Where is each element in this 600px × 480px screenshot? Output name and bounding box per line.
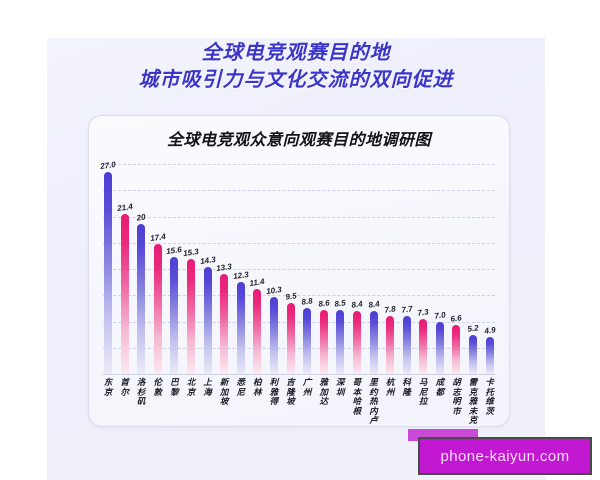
headline-line-1: 全球电竞观赛目的地: [47, 40, 545, 67]
chart-plot-area: 27.021.42017.415.615.314.313.312.311.410…: [103, 164, 495, 374]
bar-column[interactable]: 9.5: [286, 164, 296, 374]
bar-value-label: 20: [136, 212, 146, 222]
bar[interactable]: 10.3: [270, 297, 278, 374]
bar-value-label: 9.5: [284, 291, 296, 301]
bar-column[interactable]: 11.4: [252, 164, 262, 374]
headline-line-2: 城市吸引力与文化交流的双向促进: [47, 67, 545, 94]
x-axis-label: 雅加达: [319, 378, 329, 407]
x-axis-label: 杭州: [385, 378, 395, 397]
x-axis-label: 里约热内卢: [369, 378, 379, 426]
x-axis-label: 胡志明市: [451, 378, 461, 416]
x-axis-label: 成都: [435, 378, 445, 397]
bar[interactable]: 15.6: [170, 257, 178, 374]
bar[interactable]: 12.3: [237, 282, 245, 374]
bar-column[interactable]: 13.3: [219, 164, 229, 374]
bar[interactable]: 7.8: [386, 316, 394, 375]
watermark-label: phone-kaiyun.com: [441, 448, 570, 465]
x-axis-label: 哥本哈根: [352, 378, 362, 416]
bar[interactable]: 20: [137, 224, 145, 374]
bar-value-label: 4.9: [484, 326, 496, 336]
bar[interactable]: 4.9: [486, 337, 494, 374]
bar-value-label: 13.3: [216, 262, 233, 273]
bar-value-label: 8.4: [351, 299, 363, 309]
bar-column[interactable]: 8.4: [352, 164, 362, 374]
bar[interactable]: 8.8: [303, 308, 311, 374]
bar-value-label: 7.0: [434, 310, 446, 320]
bar-value-label: 21.4: [116, 201, 133, 212]
bar-value-label: 7.3: [417, 308, 429, 318]
bar-column[interactable]: 4.9: [485, 164, 495, 374]
chart-axis-line: [103, 374, 495, 375]
x-axis-label: 卡托维茨: [485, 378, 495, 416]
bar[interactable]: 27.0: [104, 172, 112, 375]
bar-column[interactable]: 8.6: [319, 164, 329, 374]
bar[interactable]: 7.0: [436, 322, 444, 375]
bar[interactable]: 8.4: [370, 311, 378, 374]
watermark-badge: phone-kaiyun.com: [418, 437, 592, 475]
bar-value-label: 14.3: [199, 255, 216, 266]
x-axis-label: 东京: [103, 378, 113, 397]
bar-value-label: 12.3: [232, 270, 249, 281]
x-axis-label: 深圳: [335, 378, 345, 397]
bar-column[interactable]: 7.8: [385, 164, 395, 374]
chart-bars: 27.021.42017.415.615.314.313.312.311.410…: [103, 164, 495, 374]
bar-column[interactable]: 14.3: [203, 164, 213, 374]
bar-column[interactable]: 15.6: [169, 164, 179, 374]
bar-column[interactable]: 10.3: [269, 164, 279, 374]
bar-column[interactable]: 5.2: [468, 164, 478, 374]
bar-column[interactable]: 27.0: [103, 164, 113, 374]
bar[interactable]: 21.4: [121, 214, 129, 375]
bar[interactable]: 17.4: [154, 244, 162, 375]
x-axis-label: 洛杉矶: [136, 378, 146, 407]
x-axis-label: 伦敦: [153, 378, 163, 397]
bar-value-label: 11.4: [249, 277, 265, 288]
chart-card: 全球电竞观众意向观赛目的地调研图 27.021.42017.415.615.31…: [88, 115, 510, 427]
x-axis-label: 广州: [302, 378, 312, 397]
x-axis-label: 科隆: [402, 378, 412, 397]
bar[interactable]: 11.4: [253, 289, 261, 375]
bar[interactable]: 7.3: [419, 319, 427, 374]
bar-value-label: 7.7: [401, 305, 413, 315]
bar[interactable]: 8.6: [320, 310, 328, 375]
x-axis-label: 北京: [186, 378, 196, 397]
screenshot-root: 全球电竞观赛目的地 城市吸引力与文化交流的双向促进 全球电竞观众意向观赛目的地调…: [0, 0, 600, 480]
bar-column[interactable]: 15.3: [186, 164, 196, 374]
bar[interactable]: 14.3: [204, 267, 212, 374]
x-axis-label: 利雅得: [269, 378, 279, 407]
bar-value-label: 10.3: [266, 285, 283, 296]
x-axis-label: 马尼拉: [418, 378, 428, 407]
bar[interactable]: 9.5: [287, 303, 295, 374]
bar-value-label: 15.6: [166, 245, 183, 256]
bar[interactable]: 7.7: [403, 316, 411, 374]
bar-value-label: 17.4: [149, 231, 166, 242]
bar-column[interactable]: 7.3: [418, 164, 428, 374]
bar-value-label: 5.2: [467, 323, 479, 333]
bar[interactable]: 13.3: [220, 274, 228, 374]
bar[interactable]: 6.6: [452, 325, 460, 375]
bar-value-label: 27.0: [100, 159, 117, 170]
bar-column[interactable]: 20: [136, 164, 146, 374]
x-axis-label: 悉尼: [236, 378, 246, 397]
bar-value-label: 8.4: [367, 299, 379, 309]
bar[interactable]: 8.5: [336, 310, 344, 374]
bar-column[interactable]: 8.8: [302, 164, 312, 374]
bar-column[interactable]: 7.7: [402, 164, 412, 374]
x-axis-label: 柏林: [252, 378, 262, 397]
x-axis-label: 首尔: [120, 378, 130, 397]
bar-column[interactable]: 7.0: [435, 164, 445, 374]
bar-column[interactable]: 17.4: [153, 164, 163, 374]
bar[interactable]: 15.3: [187, 259, 195, 374]
bar-value-label: 7.8: [384, 304, 396, 314]
bar-value-label: 8.5: [334, 299, 346, 309]
x-axis-label: 上海: [203, 378, 213, 397]
bar-column[interactable]: 6.6: [451, 164, 461, 374]
bar-value-label: 15.3: [183, 247, 200, 258]
bar-column[interactable]: 21.4: [120, 164, 130, 374]
x-axis-label: 雷克雅未克: [468, 378, 478, 426]
x-axis-label: 吉隆坡: [286, 378, 296, 407]
bar-value-label: 8.8: [301, 296, 313, 306]
bar-column[interactable]: 12.3: [236, 164, 246, 374]
bar[interactable]: 8.4: [353, 311, 361, 374]
x-axis-label: 巴黎: [169, 378, 179, 397]
bar-value-label: 8.6: [318, 298, 330, 308]
x-axis-label: 新加坡: [219, 378, 229, 407]
bar-column[interactable]: 8.5: [335, 164, 345, 374]
chart-title: 全球电竞观众意向观赛目的地调研图: [89, 126, 509, 150]
bar-column[interactable]: 8.4: [369, 164, 379, 374]
page-headline: 全球电竞观赛目的地 城市吸引力与文化交流的双向促进: [47, 40, 545, 94]
bar-value-label: 6.6: [450, 313, 462, 323]
chart-x-axis-labels: 东京首尔洛杉矶伦敦巴黎北京上海新加坡悉尼柏林利雅得吉隆坡广州雅加达深圳哥本哈根里…: [103, 378, 495, 422]
bar[interactable]: 5.2: [469, 335, 477, 374]
